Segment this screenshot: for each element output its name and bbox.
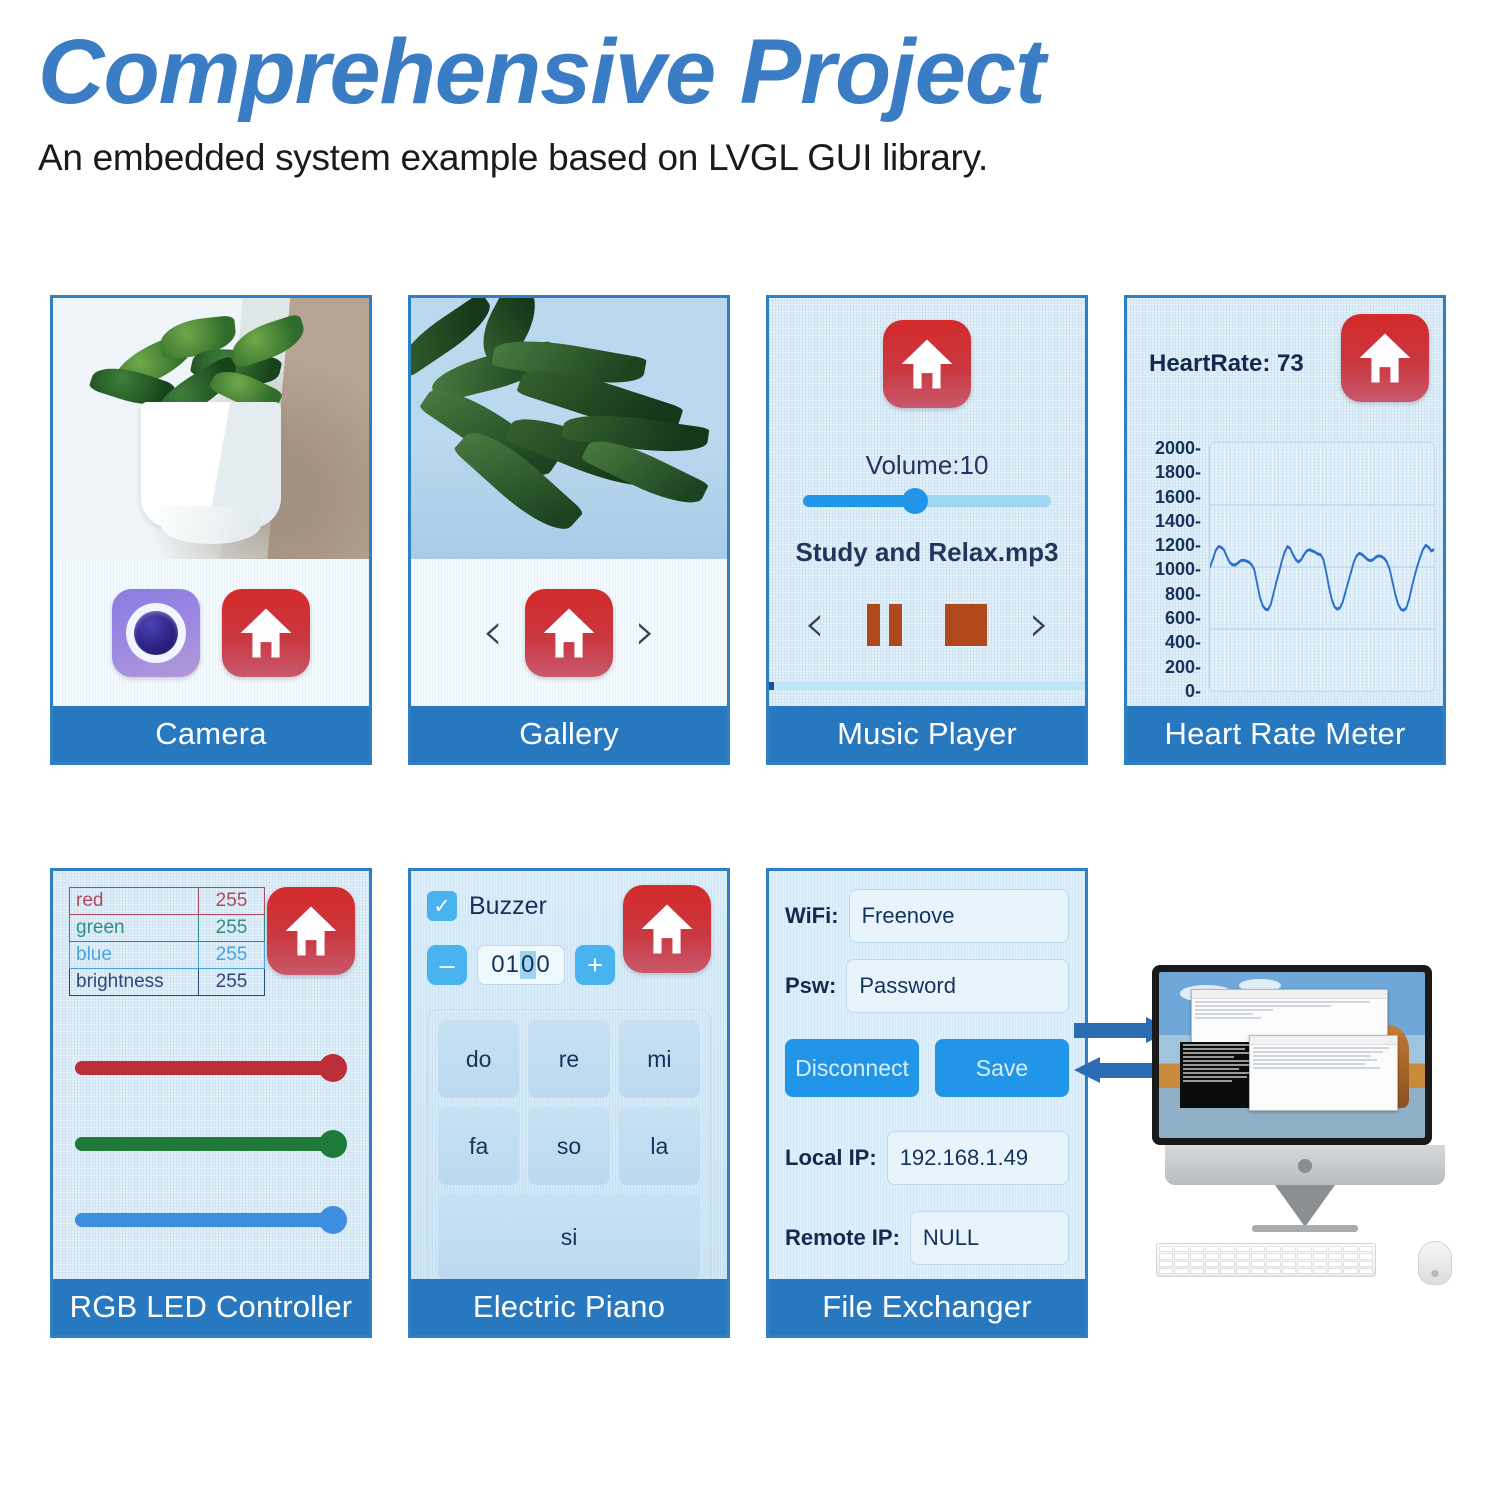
- save-button[interactable]: Save: [935, 1039, 1069, 1097]
- keyboard-key: [1313, 1246, 1327, 1252]
- electric-piano-screen: ✓ Buzzer – 0100 +: [411, 871, 727, 1279]
- card-heart-rate-meter[interactable]: HeartRate: 73 2000-1800-1600-1400-1200-1…: [1124, 295, 1446, 765]
- monitor-screen: [1159, 972, 1425, 1138]
- keyboard-key: [1282, 1261, 1296, 1267]
- card-label-rgb-led-controller: RGB LED Controller: [53, 1279, 369, 1335]
- card-label-electric-piano: Electric Piano: [411, 1279, 727, 1335]
- keyboard-key: [1190, 1268, 1204, 1274]
- channel-value: 255: [199, 942, 265, 969]
- keyboard-key: [1159, 1253, 1173, 1259]
- keyboard-key: [1313, 1261, 1327, 1267]
- keyboard-key: [1328, 1261, 1342, 1267]
- disconnect-button[interactable]: Disconnect: [785, 1039, 919, 1097]
- wifi-row: WiFi: Freenove: [785, 889, 1069, 943]
- keyboard-key: [1313, 1253, 1327, 1259]
- page-subtitle: An embedded system example based on LVGL…: [38, 137, 1338, 179]
- gallery-photo: [411, 298, 727, 559]
- keyboard-key: [1266, 1261, 1280, 1267]
- card-row-bottom: red255green255blue255brightness255: [50, 868, 1088, 1338]
- previous-track-button[interactable]: ‹: [804, 604, 825, 646]
- increment-button[interactable]: +: [575, 945, 615, 985]
- home-button[interactable]: [883, 320, 971, 408]
- piano-key-mi[interactable]: mi: [619, 1020, 700, 1098]
- heart-rate-chart: 2000-1800-1600-1400-1200-1000-800-600-40…: [1143, 438, 1437, 702]
- card-electric-piano[interactable]: ✓ Buzzer – 0100 +: [408, 868, 730, 1338]
- keyboard-key: [1251, 1253, 1265, 1259]
- channel-name: blue: [70, 942, 199, 969]
- chart-y-axis: 2000-1800-1600-1400-1200-1000-800-600-40…: [1143, 438, 1201, 702]
- slider-red[interactable]: [75, 1061, 347, 1075]
- home-icon: [898, 336, 956, 392]
- card-music-player[interactable]: Volume:10 Study and Relax.mp3 ‹ › Music …: [766, 295, 1088, 765]
- keyboard-key: [1343, 1246, 1357, 1252]
- chart-waveform: [1210, 443, 1434, 691]
- keyboard-key: [1220, 1261, 1234, 1267]
- keyboard-key: [1359, 1261, 1373, 1267]
- keyboard-key: [1159, 1246, 1173, 1252]
- decrement-button[interactable]: –: [427, 945, 467, 985]
- keyboard-key: [1343, 1253, 1357, 1259]
- chart-y-tick: 600-: [1165, 608, 1201, 629]
- chart-y-tick: 400-: [1165, 632, 1201, 653]
- chart-y-tick: 2000-: [1155, 438, 1201, 459]
- card-rgb-led-controller[interactable]: red255green255blue255brightness255: [50, 868, 372, 1338]
- keyboard-key: [1159, 1261, 1173, 1267]
- camera-preview-photo: [53, 298, 369, 559]
- gallery-prev-button[interactable]: ‹: [482, 612, 503, 654]
- password-label: Psw:: [785, 973, 836, 999]
- keyboard-key: [1297, 1246, 1311, 1252]
- keyboard-key: [1313, 1268, 1327, 1274]
- keyboard-key: [1236, 1246, 1250, 1252]
- card-label-file-exchanger: File Exchanger: [769, 1279, 1085, 1335]
- heart-rate-screen: HeartRate: 73 2000-1800-1600-1400-1200-1…: [1127, 298, 1443, 706]
- card-label-heart-rate-meter: Heart Rate Meter: [1127, 706, 1443, 762]
- heart-rate-reading: HeartRate: 73: [1149, 350, 1304, 378]
- keyboard-key: [1205, 1261, 1219, 1267]
- chart-y-tick: 0-: [1185, 681, 1201, 702]
- piano-key-si[interactable]: si: [438, 1194, 700, 1279]
- keyboard-key: [1266, 1268, 1280, 1274]
- keyboard-key: [1190, 1246, 1204, 1252]
- piano-keypad: doremifasolasi: [427, 1009, 711, 1279]
- home-button[interactable]: [1341, 314, 1429, 402]
- playback-controls: ‹ ›: [769, 604, 1085, 646]
- home-button[interactable]: [525, 589, 613, 677]
- keyboard-key: [1343, 1261, 1357, 1267]
- piano-key-la[interactable]: la: [619, 1107, 700, 1185]
- page-header: Comprehensive Project An embedded system…: [38, 24, 1338, 179]
- table-row: red255: [70, 888, 265, 915]
- frequency-stepper: – 0100 +: [427, 945, 623, 985]
- keyboard-key: [1220, 1246, 1234, 1252]
- gallery-controls: ‹ ›: [411, 559, 727, 706]
- keyboard-key: [1282, 1268, 1296, 1274]
- keyboard-key: [1205, 1253, 1219, 1259]
- keyboard-key: [1343, 1268, 1357, 1274]
- keyboard-key: [1236, 1268, 1250, 1274]
- channel-value: 255: [199, 915, 265, 942]
- piano-key-do[interactable]: do: [438, 1020, 519, 1098]
- keyboard-key: [1159, 1268, 1173, 1274]
- channel-name: brightness: [70, 969, 199, 996]
- home-button[interactable]: [623, 885, 711, 973]
- rgb-sliders: [75, 1061, 347, 1279]
- keyboard-key: [1282, 1253, 1296, 1259]
- keyboard-key: [1251, 1246, 1265, 1252]
- monitor-stand-base: [1252, 1225, 1358, 1232]
- spin-cursor-digit: 0: [520, 951, 536, 979]
- keyboard-key: [1297, 1261, 1311, 1267]
- channel-value: 255: [199, 888, 265, 915]
- volume-label: Volume:10: [866, 450, 989, 481]
- rgb-values-table: red255green255blue255brightness255: [69, 887, 265, 996]
- keyboard-key: [1266, 1246, 1280, 1252]
- home-icon: [282, 903, 340, 959]
- keyboard-key: [1220, 1268, 1234, 1274]
- home-icon: [237, 605, 295, 661]
- keyboard-key: [1236, 1253, 1250, 1259]
- wifi-label: WiFi:: [785, 903, 839, 929]
- keyboard-key: [1174, 1246, 1188, 1252]
- card-file-exchanger[interactable]: WiFi: Freenove Psw: Password Disconnect …: [766, 868, 1088, 1338]
- monitor: [1152, 965, 1432, 1145]
- buzzer-checkbox[interactable]: ✓: [427, 891, 457, 921]
- password-input[interactable]: Password: [846, 959, 1069, 1013]
- camera-lens-icon: [126, 603, 186, 663]
- keyboard-key: [1174, 1261, 1188, 1267]
- slider-blue[interactable]: [75, 1213, 347, 1227]
- camera-shutter-button[interactable]: [112, 589, 200, 677]
- local-ip-row: Local IP: 192.168.1.49: [785, 1131, 1069, 1185]
- home-button[interactable]: [222, 589, 310, 677]
- keyboard-key: [1328, 1253, 1342, 1259]
- chart-y-tick: 1800-: [1155, 462, 1201, 483]
- chart-y-tick: 1400-: [1155, 511, 1201, 532]
- home-icon: [638, 901, 696, 957]
- stop-icon[interactable]: [945, 604, 987, 646]
- piano-key-fa[interactable]: fa: [438, 1107, 519, 1185]
- channel-name: red: [70, 888, 199, 915]
- keyboard-key: [1297, 1253, 1311, 1259]
- track-title: Study and Relax.mp3: [796, 537, 1059, 568]
- home-icon: [540, 605, 598, 661]
- keyboard-key: [1174, 1268, 1188, 1274]
- table-row: blue255: [70, 942, 265, 969]
- piano-key-re[interactable]: re: [528, 1020, 609, 1098]
- volume-slider-fill: [803, 495, 915, 507]
- keyboard-key: [1359, 1268, 1373, 1274]
- volume-slider[interactable]: [803, 495, 1051, 507]
- piano-key-so[interactable]: so: [528, 1107, 609, 1185]
- page-title: Comprehensive Project: [38, 24, 1338, 121]
- table-row: brightness255: [70, 969, 265, 996]
- card-gallery[interactable]: ‹ › Gallery: [408, 295, 730, 765]
- keyboard-key: [1205, 1268, 1219, 1274]
- pause-icon[interactable]: [867, 604, 902, 646]
- keyboard-key: [1328, 1268, 1342, 1274]
- file-exchanger-screen: WiFi: Freenove Psw: Password Disconnect …: [769, 871, 1085, 1279]
- monitor-chin: [1165, 1145, 1445, 1185]
- local-ip-label: Local IP:: [785, 1145, 877, 1171]
- keyboard-key: [1251, 1268, 1265, 1274]
- next-track-button[interactable]: ›: [1029, 604, 1050, 646]
- camera-controls: [53, 559, 369, 706]
- remote-ip-row: Remote IP: NULL: [785, 1211, 1069, 1265]
- desktop-computer-illustration: [1130, 965, 1480, 1285]
- card-camera[interactable]: Camera: [50, 295, 372, 765]
- card-label-camera: Camera: [53, 706, 369, 762]
- chart-plot-area: [1209, 442, 1435, 692]
- mouse: [1418, 1241, 1452, 1285]
- card-label-gallery: Gallery: [411, 706, 727, 762]
- keyboard-key: [1220, 1253, 1234, 1259]
- keyboard-key: [1297, 1268, 1311, 1274]
- keyboard-key: [1359, 1253, 1373, 1259]
- chart-y-tick: 200-: [1165, 657, 1201, 678]
- volume-slider-knob[interactable]: [902, 488, 928, 514]
- keyboard-key: [1282, 1246, 1296, 1252]
- chart-y-tick: 800-: [1165, 584, 1201, 605]
- gallery-screen: ‹ ›: [411, 298, 727, 706]
- connection-buttons: Disconnect Save: [785, 1039, 1069, 1097]
- card-row-top: Camera ‹: [50, 295, 1446, 765]
- keyboard: [1156, 1243, 1376, 1277]
- keyboard-key: [1266, 1253, 1280, 1259]
- keyboard-key: [1359, 1246, 1373, 1252]
- transfer-tool-window: [1249, 1035, 1398, 1111]
- remote-ip-value: NULL: [910, 1211, 1069, 1265]
- keyboard-key: [1236, 1261, 1250, 1267]
- keyboard-key: [1174, 1253, 1188, 1259]
- frequency-value[interactable]: 0100: [477, 945, 565, 985]
- chart-y-tick: 1200-: [1155, 535, 1201, 556]
- rgb-led-screen: red255green255blue255brightness255: [53, 871, 369, 1279]
- table-row: green255: [70, 915, 265, 942]
- home-icon: [1356, 330, 1414, 386]
- chart-y-tick: 1600-: [1155, 487, 1201, 508]
- keyboard-key: [1328, 1246, 1342, 1252]
- monitor-stand: [1275, 1185, 1335, 1227]
- keyboard-key: [1205, 1246, 1219, 1252]
- remote-ip-label: Remote IP:: [785, 1225, 900, 1251]
- camera-screen: [53, 298, 369, 706]
- keyboard-key: [1190, 1253, 1204, 1259]
- slider-green[interactable]: [75, 1137, 347, 1151]
- password-row: Psw: Password: [785, 959, 1069, 1013]
- spin-suffix: 0: [536, 951, 550, 979]
- channel-name: green: [70, 915, 199, 942]
- keyboard-key: [1190, 1261, 1204, 1267]
- spin-prefix: 01: [491, 951, 520, 979]
- home-button[interactable]: [267, 887, 355, 975]
- playback-progress-bar[interactable]: [769, 682, 1085, 690]
- chart-y-tick: 1000-: [1155, 559, 1201, 580]
- wifi-input[interactable]: Freenove: [849, 889, 1069, 943]
- local-ip-value: 192.168.1.49: [887, 1131, 1069, 1185]
- buzzer-label: Buzzer: [469, 892, 547, 921]
- card-label-music-player: Music Player: [769, 706, 1085, 762]
- channel-value: 255: [199, 969, 265, 996]
- music-player-screen: Volume:10 Study and Relax.mp3 ‹ ›: [769, 298, 1085, 706]
- keyboard-key: [1251, 1261, 1265, 1267]
- gallery-next-button[interactable]: ›: [635, 612, 656, 654]
